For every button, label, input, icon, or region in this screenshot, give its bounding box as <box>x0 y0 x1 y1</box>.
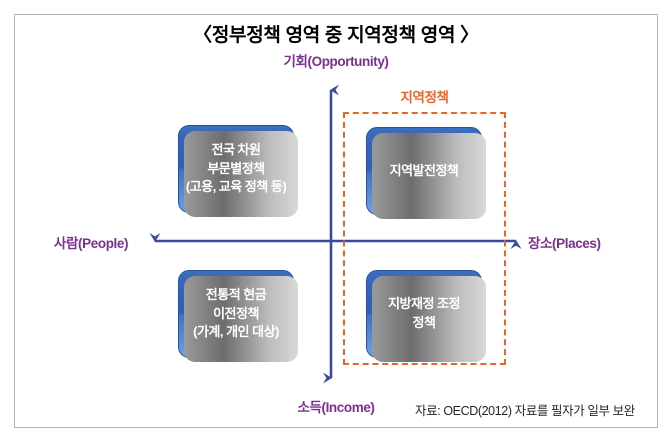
source-note: 자료: OECD(2012) 자료를 필자가 일부 보완 <box>415 400 635 419</box>
region-label-regional-policy: 지역정책 <box>343 86 506 106</box>
policy-box-label: 전통적 현금이전정책(가계, 개인 대상) <box>187 286 285 343</box>
policy-box-label: 지방재정 조정정책 <box>382 295 466 333</box>
policy-box-nationwide-sectoral-policy[interactable]: 전국 차원부문별정책(고용, 교육 정책 등) <box>178 125 294 213</box>
figure-frame <box>14 14 658 428</box>
axis-label-opportunity: 기회(Opportunity) <box>0 50 672 70</box>
figure-title: 〈정부정책 영역 중 지역정책 영역 〉 <box>0 20 672 47</box>
policy-box-traditional-cash-transfer-policy[interactable]: 전통적 현금이전정책(가계, 개인 대상) <box>178 270 294 358</box>
policy-box-regional-development-policy[interactable]: 지역발전정책 <box>366 127 482 215</box>
diagram-canvas: 〈정부정책 영역 중 지역정책 영역 〉 기회(Opportunity) 사람(… <box>0 0 672 444</box>
axis-label-people: 사람(People) <box>54 232 128 252</box>
policy-box-label: 지역발전정책 <box>384 162 465 181</box>
axis-label-places: 장소(Places) <box>528 232 601 252</box>
policy-box-label: 전국 차원부문별정책(고용, 교육 정책 등) <box>180 141 292 198</box>
policy-box-local-fiscal-adjustment-policy[interactable]: 지방재정 조정정책 <box>366 270 482 358</box>
